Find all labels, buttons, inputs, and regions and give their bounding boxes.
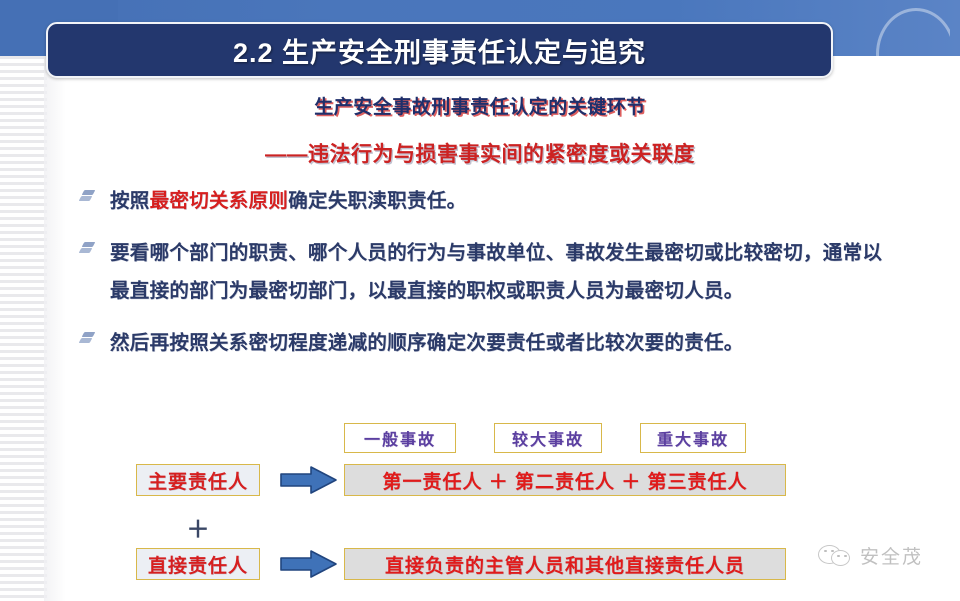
responsible-party-label-primary: 主要责任人 — [136, 464, 260, 496]
right-arrow-icon — [279, 464, 339, 496]
bullet-segment-highlight: 最密切关系原则 — [150, 190, 289, 212]
right-arrow-icon — [279, 548, 339, 580]
watermark-text: 安全茂 — [860, 542, 923, 569]
bullet-text-3: 然后再按照关系密切程度递减的顺序确定次要责任或者比较次要的责任。 — [110, 324, 744, 362]
arc-decoration-icon — [876, 2, 950, 62]
slide-canvas: 2.2 生产安全刑事责任认定与追究 生产安全事故刑事责任认定的关键环节 ——违法… — [0, 0, 960, 601]
bullet-list: 按照最密切关系原则确定失职渎职责任。 要看哪个部门的职责、哪个人员的行为与事故单… — [80, 182, 890, 376]
slide-title-bar: 2.2 生产安全刑事责任认定与追究 — [46, 22, 833, 78]
bullet-segment: 确定失职渎职责任。 — [288, 190, 466, 212]
responsible-party-label-direct: 直接责任人 — [136, 548, 260, 580]
accident-level-box-2: 较大事故 — [494, 423, 602, 453]
responsible-party-value-primary: 第一责任人 ＋ 第二责任人 ＋ 第三责任人 — [344, 464, 786, 496]
watermark: 安全茂 — [818, 542, 923, 569]
subtitle-secondary: ——违法行为与损害事实间的紧密度或关联度 — [0, 138, 960, 168]
diagram-plus-connector: ＋ — [136, 510, 260, 544]
list-item: 然后再按照关系密切程度递减的顺序确定次要责任或者比较次要的责任。 — [80, 324, 890, 362]
responsibility-diagram: 一般事故 较大事故 重大事故 主要责任人 第一责任人 ＋ 第二责任人 ＋ 第三责… — [0, 418, 960, 583]
diamond-bullet-icon — [80, 241, 95, 256]
bullet-text-2: 要看哪个部门的职责、哪个人员的行为与事故单位、事故发生最密切或比较密切，通常以最… — [110, 234, 890, 310]
accident-level-box-1: 一般事故 — [344, 423, 456, 453]
page-title: 2.2 生产安全刑事责任认定与追究 — [233, 31, 646, 70]
responsible-party-value-direct: 直接负责的主管人员和其他直接责任人员 — [344, 548, 786, 580]
list-item: 要看哪个部门的职责、哪个人员的行为与事故单位、事故发生最密切或比较密切，通常以最… — [80, 234, 890, 310]
wechat-icon — [818, 543, 852, 569]
bullet-segment: 按照 — [110, 190, 150, 212]
subtitle-primary: 生产安全事故刑事责任认定的关键环节 — [0, 92, 960, 119]
bullet-text-1: 按照最密切关系原则确定失职渎职责任。 — [110, 182, 466, 220]
diamond-bullet-icon — [80, 331, 95, 346]
list-item: 按照最密切关系原则确定失职渎职责任。 — [80, 182, 890, 220]
diamond-bullet-icon — [80, 189, 95, 204]
accident-level-box-3: 重大事故 — [640, 423, 746, 453]
